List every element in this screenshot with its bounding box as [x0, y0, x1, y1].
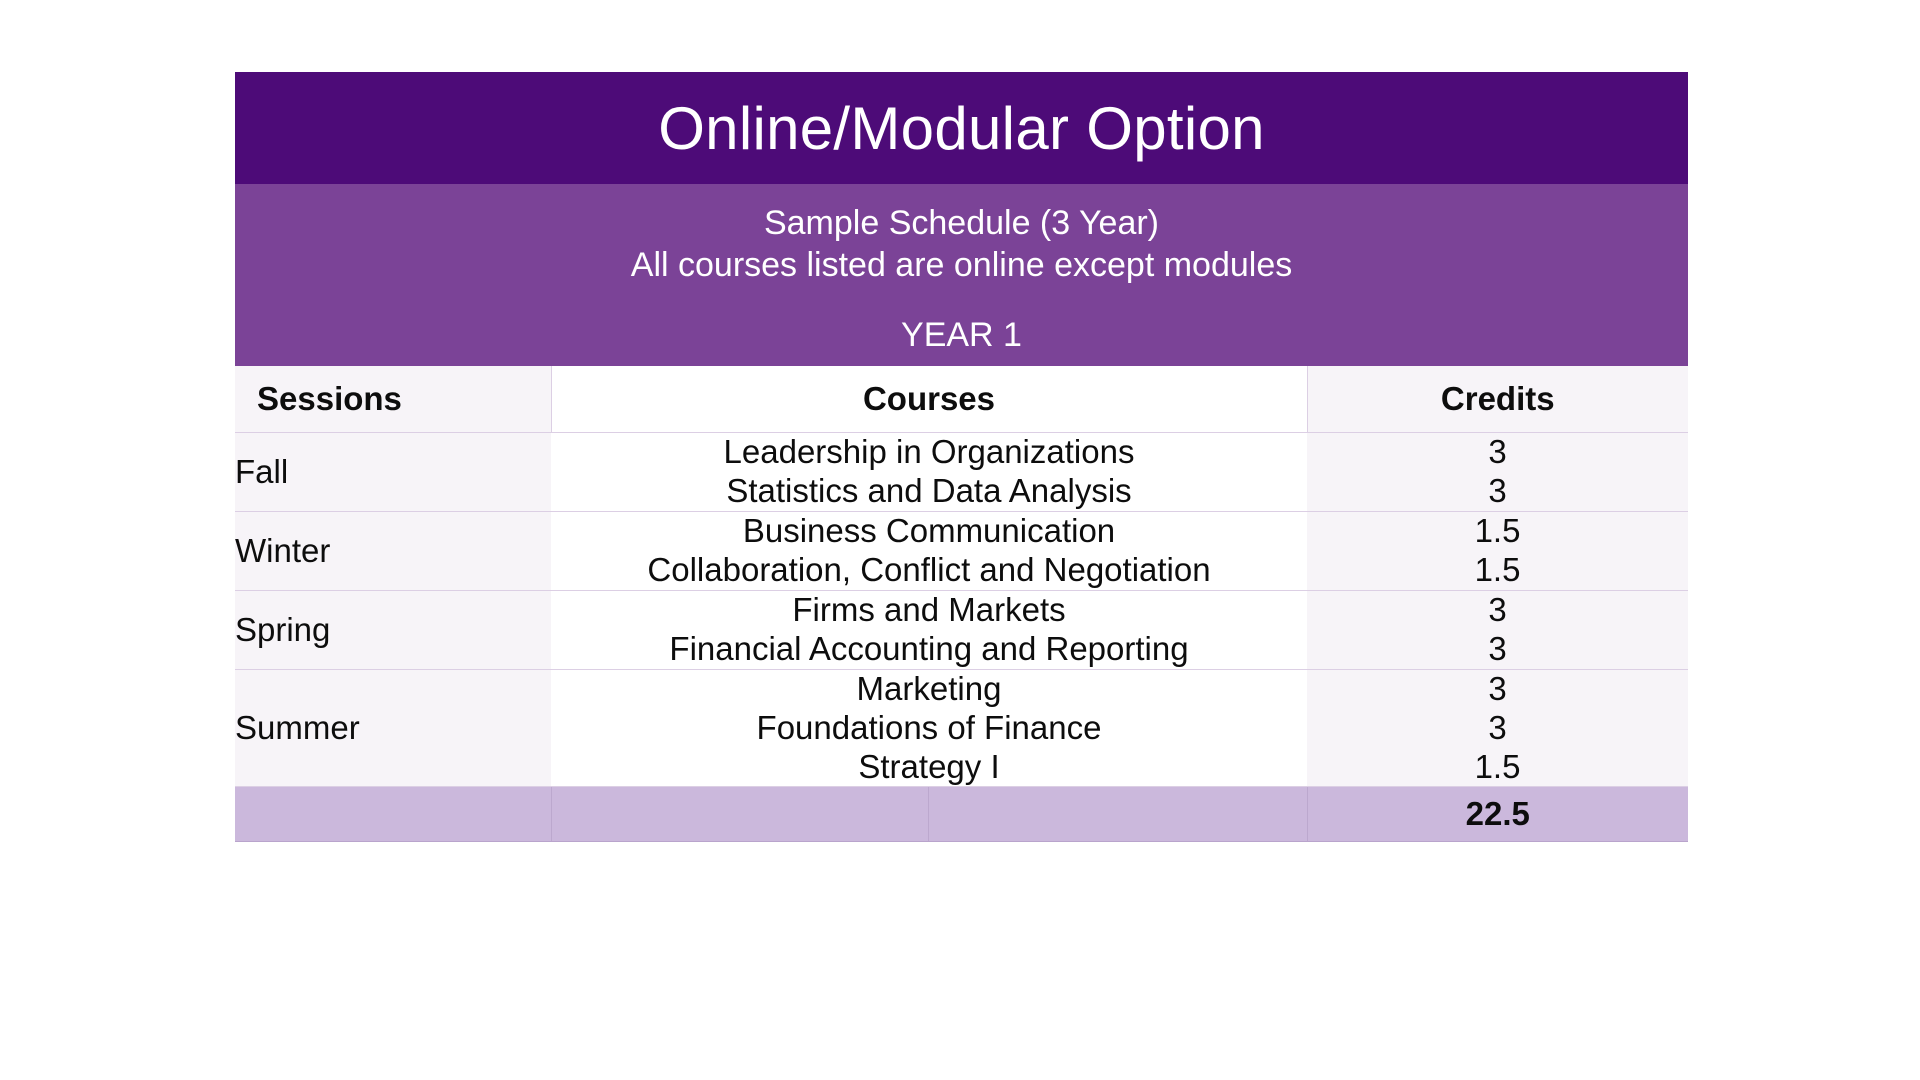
- course-item: Leadership in Organizations: [551, 433, 1307, 472]
- subtitle-row: Sample Schedule (3 Year) All courses lis…: [235, 184, 1688, 304]
- session-name: Winter: [235, 511, 551, 590]
- credit-value: 3: [1307, 472, 1688, 511]
- course-item: Marketing: [551, 670, 1307, 709]
- credit-value: 1.5: [1307, 748, 1688, 787]
- table-row: Summer Marketing Foundations of Finance …: [235, 669, 1688, 787]
- course-item: Strategy I: [551, 748, 1307, 787]
- credit-value: 3: [1307, 670, 1688, 709]
- table-row: Fall Leadership in Organizations Statist…: [235, 433, 1688, 512]
- course-item: Collaboration, Conflict and Negotiation: [551, 551, 1307, 590]
- credit-value: 3: [1307, 630, 1688, 669]
- credit-value: 3: [1307, 433, 1688, 472]
- session-name: Summer: [235, 669, 551, 787]
- courses-cell: Business Communication Collaboration, Co…: [551, 511, 1307, 590]
- credit-value: 3: [1307, 591, 1688, 630]
- total-courses-right-cell: [928, 787, 1307, 842]
- title-row: Online/Modular Option: [235, 72, 1688, 184]
- session-name: Spring: [235, 590, 551, 669]
- course-item: Foundations of Finance: [551, 709, 1307, 748]
- year-label: YEAR 1: [235, 304, 1688, 366]
- courses-cell: Marketing Foundations of Finance Strateg…: [551, 669, 1307, 787]
- course-item: Financial Accounting and Reporting: [551, 630, 1307, 669]
- subtitle-block: Sample Schedule (3 Year) All courses lis…: [235, 184, 1688, 304]
- course-item: Statistics and Data Analysis: [551, 472, 1307, 511]
- column-header-credits: Credits: [1307, 366, 1688, 433]
- table-row: Winter Business Communication Collaborat…: [235, 511, 1688, 590]
- total-row: 22.5: [235, 787, 1688, 842]
- credit-value: 3: [1307, 709, 1688, 748]
- credits-cell: 3 3: [1307, 590, 1688, 669]
- total-credits-value: 22.5: [1307, 787, 1688, 842]
- credit-value: 1.5: [1307, 512, 1688, 551]
- table-header-row: Sessions Courses Credits: [235, 366, 1688, 433]
- total-session-cell: [235, 787, 551, 842]
- session-name: Fall: [235, 433, 551, 512]
- table-row: Spring Firms and Markets Financial Accou…: [235, 590, 1688, 669]
- subtitle-line-1: Sample Schedule (3 Year): [235, 202, 1688, 245]
- slide-canvas: Online/Modular Option Sample Schedule (3…: [0, 0, 1920, 1080]
- course-item: Business Communication: [551, 512, 1307, 551]
- credits-cell: 3 3 1.5: [1307, 669, 1688, 787]
- courses-cell: Leadership in Organizations Statistics a…: [551, 433, 1307, 512]
- credit-value: 1.5: [1307, 551, 1688, 590]
- column-header-sessions: Sessions: [235, 366, 551, 433]
- credits-cell: 1.5 1.5: [1307, 511, 1688, 590]
- total-courses-left-cell: [551, 787, 928, 842]
- page-title: Online/Modular Option: [235, 72, 1688, 184]
- year-row: YEAR 1: [235, 304, 1688, 366]
- course-item: Firms and Markets: [551, 591, 1307, 630]
- subtitle-line-2: All courses listed are online except mod…: [235, 244, 1688, 287]
- courses-cell: Firms and Markets Financial Accounting a…: [551, 590, 1307, 669]
- schedule-table: Online/Modular Option Sample Schedule (3…: [235, 72, 1688, 842]
- column-header-courses: Courses: [551, 366, 1307, 433]
- credits-cell: 3 3: [1307, 433, 1688, 512]
